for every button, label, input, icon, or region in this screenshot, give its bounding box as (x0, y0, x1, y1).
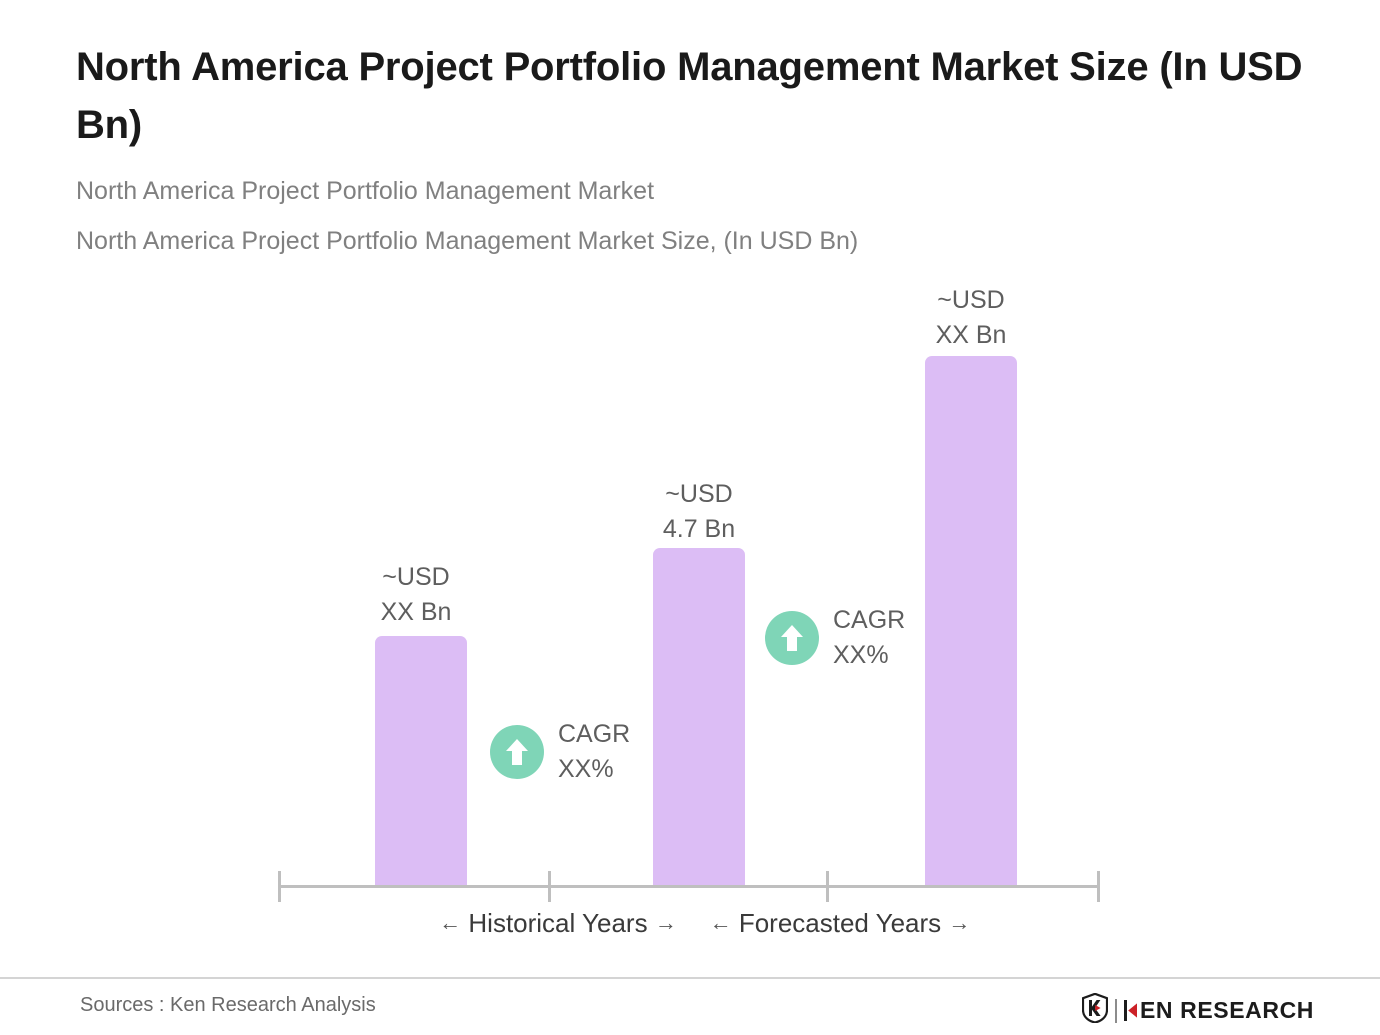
left-arrow-icon: ← (710, 910, 732, 935)
bar-chart: ~USDXX Bn ~USD4.7 Bn ~USDXX Bn CAGRXX% C (0, 0, 1380, 1035)
right-arrow-icon: → (655, 910, 677, 935)
arrow-up-icon (765, 611, 819, 665)
bar-3[interactable] (925, 356, 1017, 886)
axis-tick-mid-2 (826, 871, 829, 902)
x-axis-line (278, 885, 1100, 888)
axis-tick-mid-1 (548, 871, 551, 902)
logo-wordmark: EN RESEARCH (1124, 999, 1314, 1022)
bar-value-label-3: ~USDXX Bn (871, 283, 1071, 352)
arrow-up-icon (490, 725, 544, 779)
ken-research-logo: EN RESEARCH (1082, 993, 1314, 1028)
bar-value-label-1: ~USDXX Bn (316, 560, 516, 629)
bar-value-label-2: ~USD4.7 Bn (599, 477, 799, 546)
axis-segment-forecasted: ← Forecasted Years → (690, 908, 990, 939)
cagr-label-2: CAGRXX% (833, 603, 905, 672)
logo-divider (1115, 999, 1117, 1023)
ken-research-shield-icon (1082, 993, 1108, 1028)
cagr-annotation-1: CAGRXX% (490, 717, 630, 786)
sources-text: Sources : Ken Research Analysis (80, 994, 376, 1017)
axis-tick-start (278, 871, 281, 902)
footer-divider (0, 977, 1380, 979)
bar-1[interactable] (375, 636, 467, 886)
right-arrow-icon: → (948, 910, 970, 935)
left-arrow-icon: ← (439, 910, 461, 935)
cagr-annotation-2: CAGRXX% (765, 603, 905, 672)
axis-segment-historical: ← Historical Years → (413, 908, 703, 939)
cagr-label-1: CAGRXX% (558, 717, 630, 786)
axis-tick-end (1097, 871, 1100, 902)
slide-canvas: North America Project Portfolio Manageme… (0, 0, 1380, 1035)
logo-wordmark-text: EN RESEARCH (1140, 999, 1314, 1022)
bar-2[interactable] (653, 548, 745, 886)
